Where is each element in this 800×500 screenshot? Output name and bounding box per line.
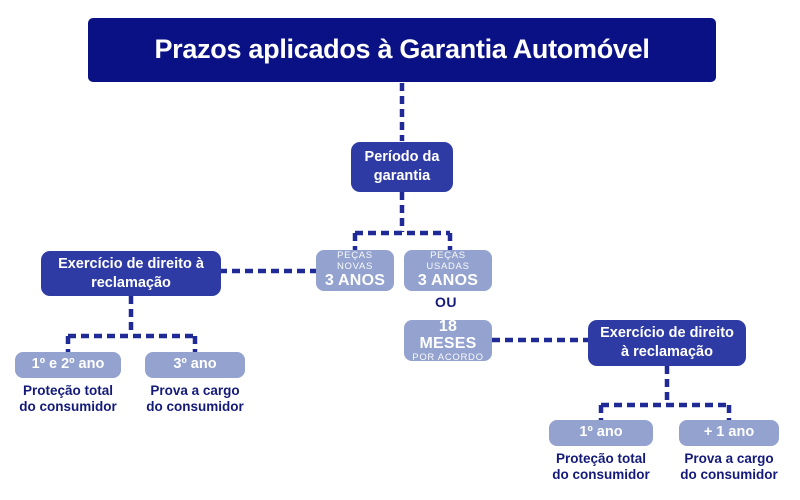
node-used-parts-caption: PEÇAS USADAS <box>412 251 484 272</box>
node-agreement-caption: POR ACORDO <box>412 353 483 363</box>
node-left-leaf-1: 1º e 2º ano <box>15 352 121 378</box>
node-claim-left-label: Exercício de direito à reclamação <box>51 255 211 292</box>
diagram-title-banner: Prazos aplicados à Garantia Automóvel <box>88 18 716 82</box>
node-right-leaf-1-label: 1º ano <box>579 425 622 441</box>
caption-left-leaf-2: Prova a cargo do consumidor <box>135 383 255 415</box>
node-agreement: 18 MESES POR ACORDO <box>404 320 492 361</box>
node-claim-right: Exercício de direito à reclamação <box>588 320 746 366</box>
caption-left-leaf-1: Proteção total do consumidor <box>8 383 128 415</box>
node-left-leaf-2: 3º ano <box>145 352 245 378</box>
node-right-leaf-1: 1º ano <box>549 420 653 446</box>
node-used-parts: PEÇAS USADAS 3 ANOS <box>404 250 492 291</box>
node-right-leaf-2-label: + 1 ano <box>704 425 754 441</box>
node-claim-right-label: Exercício de direito à reclamação <box>598 324 736 361</box>
or-label: OU <box>435 294 457 310</box>
node-left-leaf-2-label: 3º ano <box>173 357 216 373</box>
caption-right-leaf-1: Proteção total do consumidor <box>541 451 661 483</box>
diagram-canvas: Prazos aplicados à Garantia Automóvel Pe… <box>0 0 800 500</box>
node-new-parts: PEÇAS NOVAS 3 ANOS <box>316 250 394 291</box>
diagram-title-text: Prazos aplicados à Garantia Automóvel <box>154 35 649 65</box>
node-claim-left: Exercício de direito à reclamação <box>41 251 221 296</box>
caption-right-leaf-2: Prova a cargo do consumidor <box>669 451 789 483</box>
node-new-parts-value: 3 ANOS <box>325 272 385 290</box>
node-new-parts-caption: PEÇAS NOVAS <box>324 251 386 272</box>
node-warranty-period-label: Período da garantia <box>361 148 443 185</box>
node-warranty-period: Período da garantia <box>351 142 453 192</box>
node-right-leaf-2: + 1 ano <box>679 420 779 446</box>
node-used-parts-value: 3 ANOS <box>418 272 478 290</box>
node-left-leaf-1-label: 1º e 2º ano <box>32 357 105 373</box>
node-agreement-value: 18 MESES <box>412 318 484 353</box>
